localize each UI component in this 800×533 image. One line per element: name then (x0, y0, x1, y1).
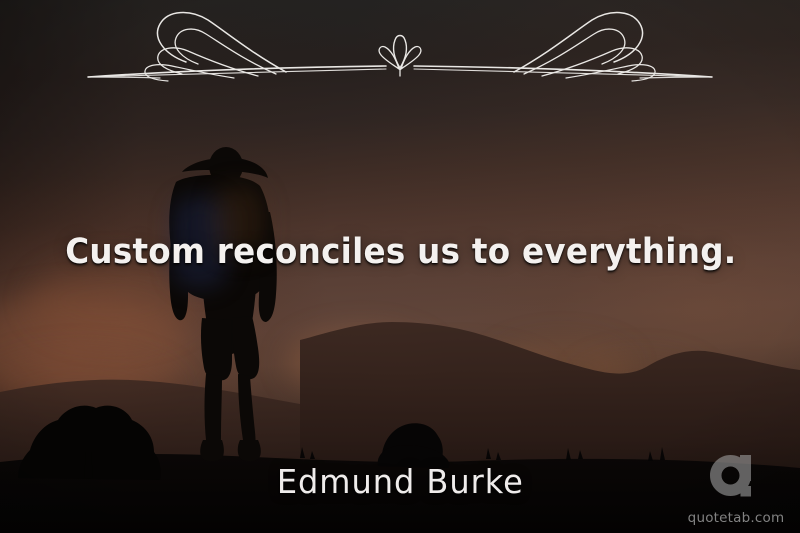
quote-block: Custom reconciles us to everything. (0, 232, 800, 273)
ornament-swirl-right-mid (542, 48, 642, 76)
ornament-tail-left (88, 77, 160, 78)
watermark[interactable]: quotetab.com (684, 453, 788, 526)
quote-text: Custom reconciles us to everything. (65, 232, 735, 273)
author-block: Edmund Burke (0, 462, 800, 501)
ornament-tail-right (640, 77, 712, 78)
decorative-flourish-divider (0, 4, 800, 100)
ornament-swirl-left-outer (158, 13, 286, 72)
author-name: Edmund Burke (277, 462, 524, 501)
quote-image-card: Custom reconciles us to everything. Edmu… (0, 0, 800, 533)
ornament-swirl-left-mid (158, 48, 258, 76)
quotetab-logo-icon[interactable] (707, 453, 765, 511)
ornament-fleuron-center-petal (394, 36, 407, 69)
ornament-swirl-right-outer (514, 13, 642, 72)
watermark-site-label[interactable]: quotetab.com (688, 512, 785, 526)
